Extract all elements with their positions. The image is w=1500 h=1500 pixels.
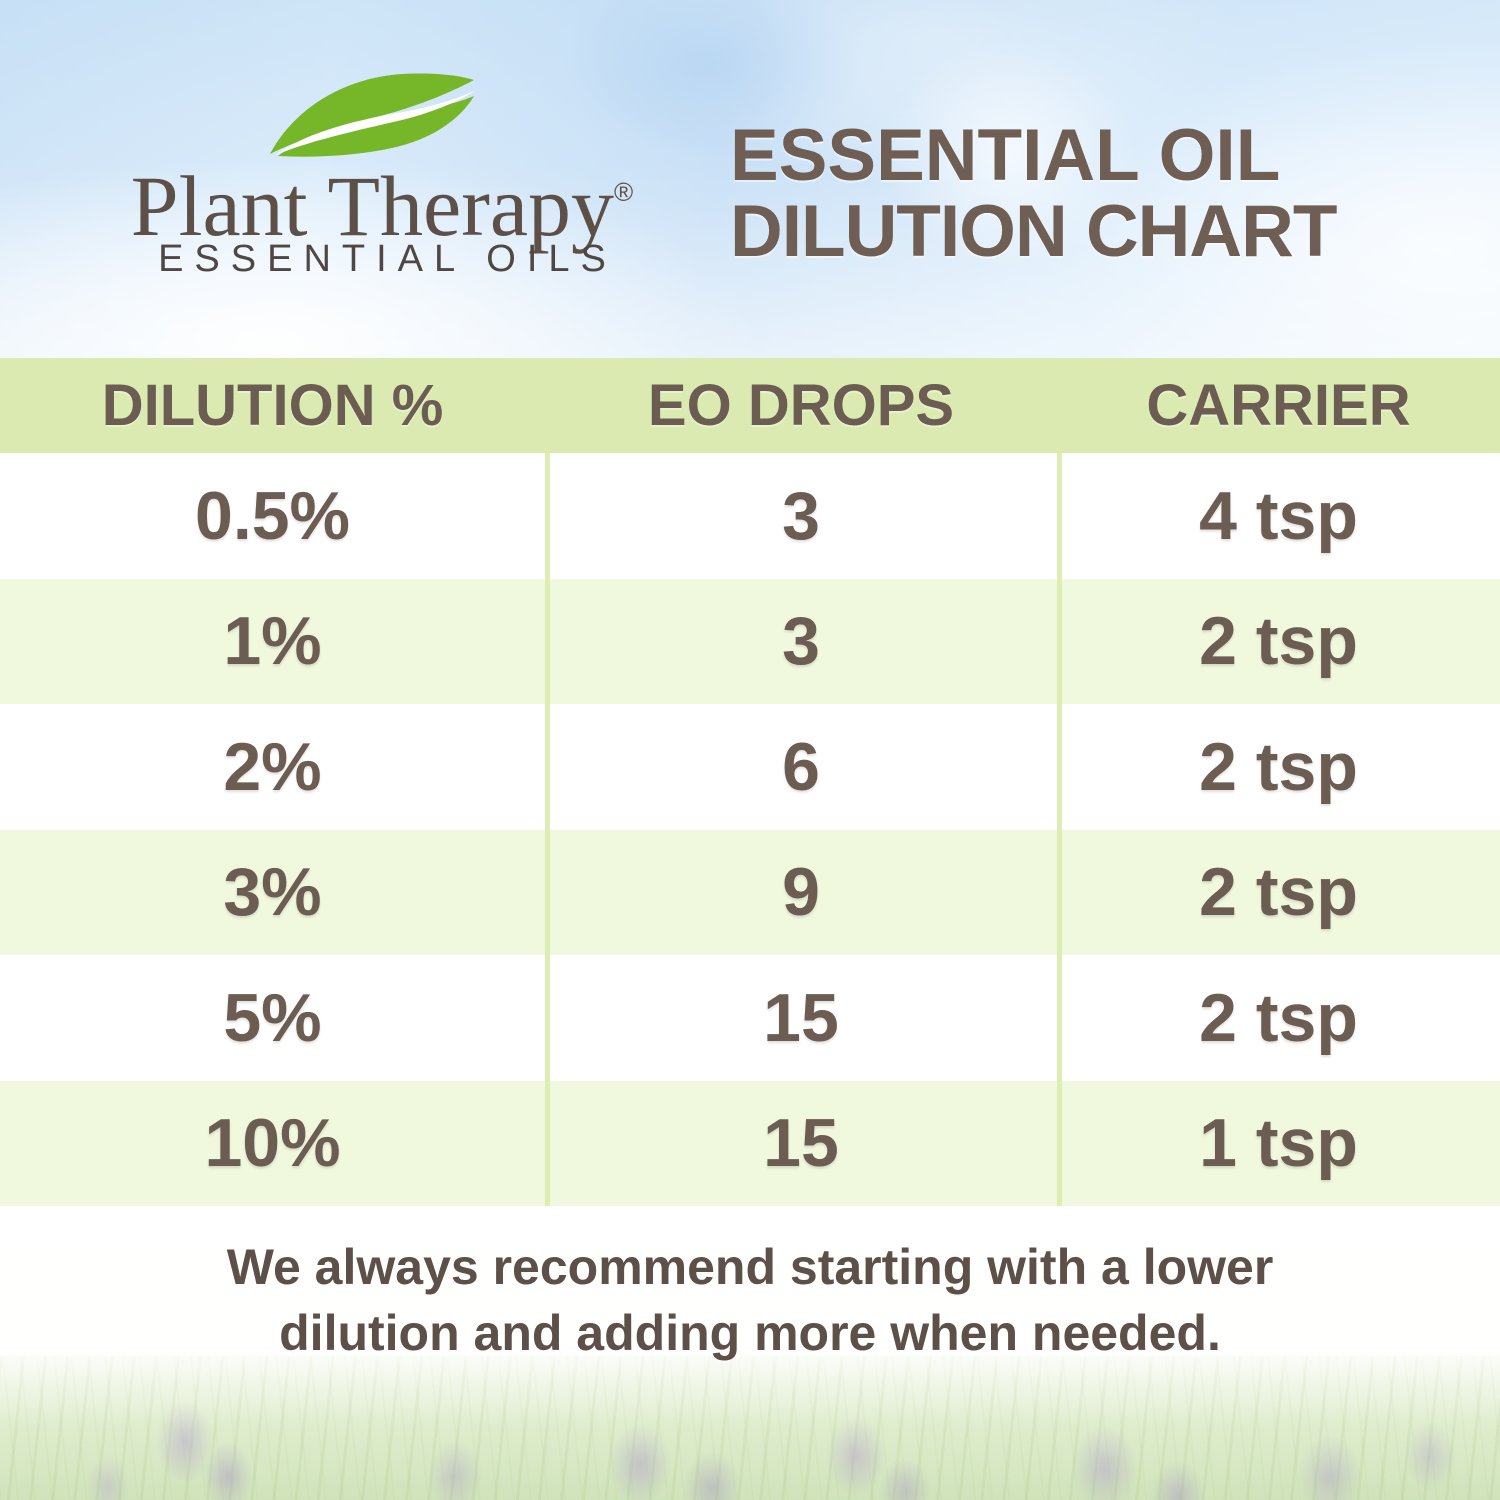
column-header-eo-drops: EO DROPS bbox=[545, 358, 1057, 453]
cell-eo-drops: 9 bbox=[545, 830, 1057, 956]
title-line-1: ESSENTIAL OIL bbox=[730, 118, 1410, 194]
cell-carrier: 1 tsp bbox=[1057, 1081, 1500, 1207]
cell-eo-drops: 6 bbox=[545, 704, 1057, 830]
dilution-chart-page: Plant Therapy® ESSENTIAL OILS ESSENTIAL … bbox=[0, 0, 1500, 1500]
cell-carrier: 2 tsp bbox=[1057, 579, 1500, 705]
cell-eo-drops: 15 bbox=[545, 955, 1057, 1081]
brand-name: Plant Therapy® bbox=[92, 146, 672, 252]
table-row: 10% 15 1 tsp bbox=[0, 1081, 1500, 1207]
cell-carrier: 2 tsp bbox=[1057, 830, 1500, 956]
cell-dilution: 1% bbox=[0, 579, 545, 705]
cell-dilution: 0.5% bbox=[0, 453, 545, 579]
dilution-table: DILUTION % EO DROPS CARRIER 0.5% 3 4 tsp… bbox=[0, 358, 1500, 1206]
table-row: 5% 15 2 tsp bbox=[0, 955, 1500, 1081]
cell-carrier: 2 tsp bbox=[1057, 704, 1500, 830]
brand-tagline: ESSENTIAL OILS bbox=[92, 238, 672, 281]
cell-eo-drops: 3 bbox=[545, 579, 1057, 705]
cell-carrier: 2 tsp bbox=[1057, 955, 1500, 1081]
column-header-dilution: DILUTION % bbox=[0, 358, 545, 453]
table-row: 3% 9 2 tsp bbox=[0, 830, 1500, 956]
cell-carrier: 4 tsp bbox=[1057, 453, 1500, 579]
cell-dilution: 10% bbox=[0, 1081, 545, 1207]
page-title: ESSENTIAL OIL DILUTION CHART bbox=[730, 118, 1410, 270]
cell-dilution: 3% bbox=[0, 830, 545, 956]
table-row: 0.5% 3 4 tsp bbox=[0, 453, 1500, 579]
table-header-row: DILUTION % EO DROPS CARRIER bbox=[0, 358, 1500, 453]
footer-section: We always recommend starting with a lowe… bbox=[0, 1206, 1500, 1500]
title-line-2: DILUTION CHART bbox=[730, 194, 1410, 270]
table-row: 2% 6 2 tsp bbox=[0, 704, 1500, 830]
note-line-2: dilution and adding more when needed. bbox=[0, 1300, 1500, 1366]
recommendation-note: We always recommend starting with a lowe… bbox=[0, 1234, 1500, 1366]
registered-mark: ® bbox=[614, 177, 633, 207]
cell-eo-drops: 15 bbox=[545, 1081, 1057, 1207]
brand-logo: Plant Therapy® ESSENTIAL OILS bbox=[92, 68, 672, 288]
table-row: 1% 3 2 tsp bbox=[0, 579, 1500, 705]
cell-dilution: 2% bbox=[0, 704, 545, 830]
note-line-1: We always recommend starting with a lowe… bbox=[0, 1234, 1500, 1300]
cell-eo-drops: 3 bbox=[545, 453, 1057, 579]
cell-dilution: 5% bbox=[0, 955, 545, 1081]
column-header-carrier: CARRIER bbox=[1057, 358, 1500, 453]
